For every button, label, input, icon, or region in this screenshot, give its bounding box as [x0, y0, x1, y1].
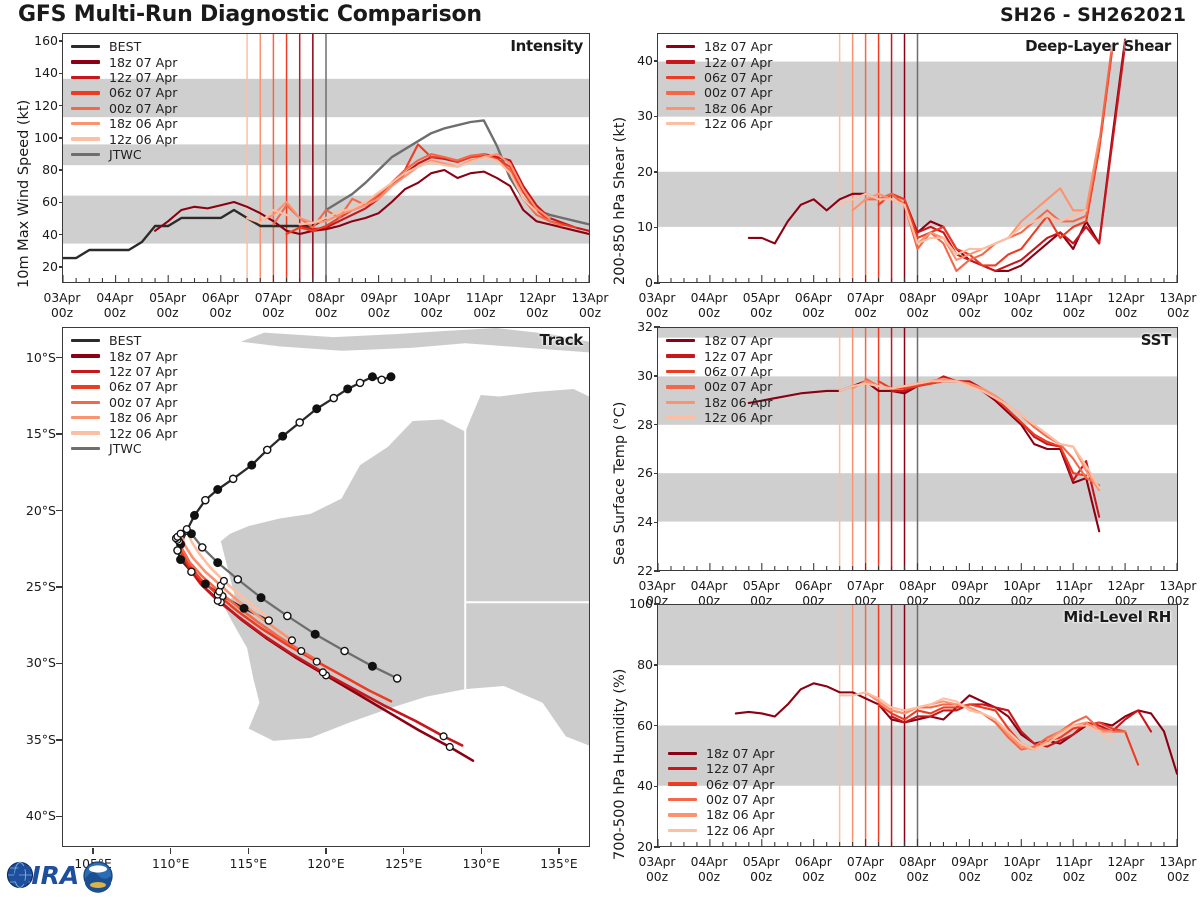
track-marker	[311, 630, 319, 638]
track-marker-open	[221, 578, 228, 585]
legend-item: 00z 07 Apr	[668, 792, 774, 807]
x-tick-label: 09Apr00z	[349, 291, 409, 320]
legend-label: 12z 07 Apr	[109, 70, 177, 85]
legend-swatch	[71, 91, 100, 94]
rh-panel[interactable]: Mid-Level RH 18z 07 Apr12z 07 Apr06z 07 …	[657, 604, 1178, 847]
legend-swatch	[666, 76, 695, 79]
legend-swatch	[71, 416, 100, 419]
cira-seal-icon	[84, 862, 112, 893]
legend-swatch	[71, 385, 100, 388]
x-tick-label: 09Apr00z	[940, 291, 1000, 320]
cira-logo: CIRA	[6, 854, 124, 896]
legend-label: 12z 06 Apr	[109, 132, 177, 147]
legend-swatch	[666, 354, 695, 357]
intensity-panel[interactable]: Intensity BEST18z 07 Apr12z 07 Apr06z 07…	[62, 33, 590, 283]
track-marker-open	[313, 658, 320, 665]
lon-tick-label: 115°E	[214, 857, 282, 872]
legend-label: 18z 07 Apr	[704, 39, 772, 54]
legend-item: 18z 06 Apr	[666, 101, 772, 116]
legend-label: 12z 07 Apr	[706, 761, 774, 776]
legend-label: 06z 07 Apr	[109, 85, 177, 100]
x-tick-label: 11Apr00z	[1044, 855, 1104, 884]
x-tick-label: 13Apr00z	[560, 291, 620, 320]
x-tick-label: 05Apr00z	[731, 855, 791, 884]
legend-swatch	[71, 122, 100, 125]
legend-swatch	[71, 137, 100, 140]
x-tick-label: 07Apr00z	[835, 291, 895, 320]
x-tick-label: 07Apr00z	[243, 291, 303, 320]
legend-item: 18z 06 Apr	[666, 395, 772, 410]
x-tick-label: 12Apr00z	[507, 291, 567, 320]
x-tick-label: 06Apr00z	[190, 291, 250, 320]
legend-swatch	[666, 122, 695, 125]
legend-item: 12z 06 Apr	[666, 410, 772, 425]
lon-tick-label: 120°E	[292, 857, 360, 872]
y-tick-label: 60	[613, 718, 653, 733]
page-title: GFS Multi-Run Diagnostic Comparison	[18, 2, 482, 27]
y-tick-label: 22	[613, 563, 653, 578]
track-legend: BEST18z 07 Apr12z 07 Apr06z 07 Apr00z 07…	[71, 333, 177, 456]
rh-y-axis-title: 700-500 hPa Humidity (%)	[612, 669, 628, 860]
lat-tick-label: 40°S	[2, 808, 56, 823]
track-marker-open	[188, 568, 195, 575]
legend-label: 18z 06 Apr	[704, 395, 772, 410]
track-marker-open	[264, 446, 271, 453]
y-tick-label: 160	[18, 33, 58, 48]
x-tick-label: 10Apr00z	[992, 855, 1052, 884]
legend-swatch	[71, 76, 100, 79]
y-tick-label: 20	[613, 839, 653, 854]
legend-item: 18z 07 Apr	[71, 348, 177, 363]
legend-swatch	[71, 45, 100, 48]
legend-swatch	[666, 339, 695, 342]
lat-tick-label: 15°S	[2, 426, 56, 441]
track-marker	[214, 559, 222, 567]
legend-label: 18z 07 Apr	[706, 746, 774, 761]
legend-item: 18z 06 Apr	[668, 807, 774, 822]
legend-swatch	[666, 45, 695, 48]
legend-swatch	[668, 798, 697, 801]
rh-x-ticks	[657, 847, 1178, 855]
intensity-legend: BEST18z 07 Apr12z 07 Apr06z 07 Apr00z 07…	[71, 39, 177, 162]
x-tick-label: 09Apr00z	[940, 855, 1000, 884]
legend-item: 00z 07 Apr	[666, 85, 772, 100]
storm-id-title: SH26 - SH262021	[1000, 4, 1186, 26]
sst-x-ticks	[657, 571, 1178, 579]
legend-label: 00z 07 Apr	[109, 101, 177, 116]
legend-label: 18z 06 Apr	[109, 410, 177, 425]
legend-label: 12z 07 Apr	[704, 55, 772, 70]
y-tick-label: 140	[18, 65, 58, 80]
x-tick-label: 06Apr00z	[783, 291, 843, 320]
legend-label: 12z 07 Apr	[704, 349, 772, 364]
legend-item: JTWC	[71, 441, 177, 456]
track-marker-open	[440, 733, 447, 740]
shear-legend: 18z 07 Apr12z 07 Apr06z 07 Apr00z 07 Apr…	[666, 39, 772, 131]
legend-label: 12z 06 Apr	[704, 116, 772, 131]
track-marker	[387, 373, 395, 381]
lat-tick-label: 35°S	[2, 732, 56, 747]
sst-panel-label: SST	[1141, 331, 1171, 349]
legend-label: 00z 07 Apr	[706, 792, 774, 807]
legend-swatch	[666, 370, 695, 373]
legend-item: 12z 06 Apr	[71, 425, 177, 440]
y-tick-label: 0	[613, 275, 653, 290]
legend-label: 12z 06 Apr	[109, 426, 177, 441]
shear-x-ticks	[657, 283, 1178, 291]
legend-swatch	[71, 401, 100, 404]
legend-swatch	[666, 91, 695, 94]
legend-item: 06z 07 Apr	[71, 379, 177, 394]
track-marker	[313, 405, 321, 413]
track-marker-open	[296, 419, 303, 426]
rh-legend: 18z 07 Apr12z 07 Apr06z 07 Apr00z 07 Apr…	[668, 746, 774, 838]
legend-label: 06z 07 Apr	[704, 70, 772, 85]
legend-item: 00z 07 Apr	[666, 379, 772, 394]
legend-label: 12z 06 Apr	[706, 823, 774, 838]
legend-swatch	[666, 385, 695, 388]
legend-item: 06z 07 Apr	[666, 364, 772, 379]
legend-label: 18z 07 Apr	[109, 349, 177, 364]
track-marker-open	[298, 648, 305, 655]
x-tick-label: 12Apr00z	[1096, 291, 1156, 320]
legend-item: 00z 07 Apr	[71, 101, 177, 116]
legend-swatch	[668, 767, 697, 770]
lon-tick-label: 130°E	[447, 857, 515, 872]
legend-label: JTWC	[109, 441, 142, 456]
legend-item: 12z 06 Apr	[666, 116, 772, 131]
track-marker-open	[341, 647, 348, 654]
legend-label: 12z 07 Apr	[109, 364, 177, 379]
legend-item: BEST	[71, 333, 177, 348]
legend-label: 00z 07 Apr	[704, 379, 772, 394]
x-tick-label: 10Apr00z	[992, 291, 1052, 320]
y-tick-label: 40	[613, 778, 653, 793]
legend-label: 00z 07 Apr	[109, 395, 177, 410]
landmass	[241, 328, 589, 352]
y-tick-label: 30	[613, 108, 653, 123]
y-tick-label: 100	[18, 130, 58, 145]
legend-item: 18z 07 Apr	[71, 54, 177, 69]
legend-item: 12z 07 Apr	[666, 54, 772, 69]
track-marker-open	[446, 744, 453, 751]
legend-label: 18z 07 Apr	[109, 55, 177, 70]
y-tick-label: 30	[613, 368, 653, 383]
legend-swatch	[71, 60, 100, 63]
legend-swatch	[668, 782, 697, 785]
y-tick-label: 80	[18, 162, 58, 177]
track-marker	[368, 373, 376, 381]
track-marker-open	[356, 379, 363, 386]
sst-legend: 18z 07 Apr12z 07 Apr06z 07 Apr00z 07 Apr…	[666, 333, 772, 425]
svg-text:CIRA: CIRA	[13, 861, 79, 890]
legend-item: 12z 07 Apr	[71, 364, 177, 379]
x-tick-label: 06Apr00z	[783, 855, 843, 884]
legend-item: BEST	[71, 39, 177, 54]
legend-item: 06z 07 Apr	[666, 70, 772, 85]
x-tick-label: 08Apr00z	[296, 291, 356, 320]
track-marker-open	[183, 526, 190, 533]
track-marker-open	[234, 576, 241, 583]
legend-swatch	[71, 107, 100, 110]
x-tick-label: 03Apr00z	[627, 291, 687, 320]
legend-item: 12z 07 Apr	[71, 70, 177, 85]
lon-tick-label: 135°E	[525, 857, 593, 872]
y-tick-label: 24	[613, 514, 653, 529]
intensity-x-ticks	[62, 283, 590, 291]
shear-panel[interactable]: Deep-Layer Shear 18z 07 Apr12z 07 Apr06z…	[657, 33, 1178, 283]
lat-tick-label: 30°S	[2, 655, 56, 670]
legend-swatch	[666, 107, 695, 110]
track-marker-open	[199, 544, 206, 551]
legend-item: 06z 07 Apr	[71, 85, 177, 100]
x-tick-label: 11Apr00z	[454, 291, 514, 320]
x-tick-label: 08Apr00z	[888, 855, 948, 884]
y-tick-label: 10	[613, 219, 653, 234]
y-tick-label: 26	[613, 465, 653, 480]
track-marker	[214, 486, 222, 494]
legend-label: 06z 07 Apr	[706, 777, 774, 792]
track-marker-open	[289, 637, 296, 644]
legend-item: 18z 06 Apr	[71, 116, 177, 131]
intensity-panel-label: Intensity	[510, 37, 583, 55]
lat-tick-label: 20°S	[2, 503, 56, 518]
rh-panel-label: Mid-Level RH	[1063, 608, 1171, 626]
track-marker	[177, 556, 185, 564]
x-tick-label: 03Apr00z	[32, 291, 92, 320]
x-tick-label: 10Apr00z	[402, 291, 462, 320]
y-tick-label: 100	[613, 596, 653, 611]
x-tick-label: 05Apr00z	[138, 291, 198, 320]
legend-item: 00z 07 Apr	[71, 395, 177, 410]
legend-label: JTWC	[109, 147, 142, 162]
y-tick-label: 28	[613, 417, 653, 432]
legend-swatch	[71, 370, 100, 373]
x-tick-label: 13Apr00z	[1148, 291, 1200, 320]
legend-item: 12z 06 Apr	[71, 131, 177, 146]
track-panel[interactable]: Track BEST18z 07 Apr12z 07 Apr06z 07 Apr…	[62, 327, 590, 847]
shear-y-axis-title: 200-850 hPa Shear (kt)	[612, 117, 628, 285]
legend-swatch	[71, 153, 100, 156]
track-marker-open	[378, 376, 385, 383]
x-tick-label: 07Apr00z	[835, 855, 895, 884]
track-marker-open	[230, 475, 237, 482]
legend-item: 06z 07 Apr	[668, 776, 774, 791]
legend-swatch	[668, 813, 697, 816]
lon-tick-label: 125°E	[370, 857, 438, 872]
legend-item: 18z 07 Apr	[668, 746, 774, 761]
legend-item: 12z 07 Apr	[668, 761, 774, 776]
track-marker-open	[320, 669, 327, 676]
legend-label: 18z 06 Apr	[704, 101, 772, 116]
legend-swatch	[71, 431, 100, 434]
y-tick-label: 80	[613, 657, 653, 672]
legend-label: 18z 06 Apr	[706, 807, 774, 822]
y-tick-label: 20	[613, 164, 653, 179]
y-tick-label: 60	[18, 194, 58, 209]
track-marker-open	[202, 497, 209, 504]
y-tick-label: 32	[613, 319, 653, 334]
x-tick-label: 04Apr00z	[85, 291, 145, 320]
x-tick-label: 04Apr00z	[679, 855, 739, 884]
legend-swatch	[666, 401, 695, 404]
legend-label: 00z 07 Apr	[704, 85, 772, 100]
legend-swatch	[666, 416, 695, 419]
track-marker	[344, 385, 352, 393]
x-tick-label: 08Apr00z	[888, 291, 948, 320]
track-marker-open	[394, 675, 401, 682]
legend-item: 12z 07 Apr	[666, 348, 772, 363]
legend-item: 18z 07 Apr	[666, 333, 772, 348]
y-tick-label: 40	[613, 53, 653, 68]
legend-swatch	[71, 447, 100, 450]
track-marker	[201, 580, 209, 588]
sst-panel[interactable]: SST 18z 07 Apr12z 07 Apr06z 07 Apr00z 07…	[657, 327, 1178, 571]
x-tick-label: 03Apr00z	[627, 855, 687, 884]
legend-label: BEST	[109, 39, 141, 54]
legend-swatch	[71, 339, 100, 342]
legend-swatch	[71, 354, 100, 357]
y-tick-label: 20	[18, 259, 58, 274]
lon-tick-label: 110°E	[137, 857, 205, 872]
legend-item: 18z 07 Apr	[666, 39, 772, 54]
x-tick-label: 04Apr00z	[679, 291, 739, 320]
track-marker	[257, 594, 265, 602]
track-marker	[191, 511, 199, 519]
legend-label: 06z 07 Apr	[109, 379, 177, 394]
track-marker	[240, 604, 248, 612]
legend-swatch	[668, 752, 697, 755]
legend-label: BEST	[109, 333, 141, 348]
legend-swatch	[666, 60, 695, 63]
legend-item: 18z 06 Apr	[71, 410, 177, 425]
legend-label: 12z 06 Apr	[704, 410, 772, 425]
shear-panel-label: Deep-Layer Shear	[1025, 37, 1171, 55]
track-marker-open	[174, 547, 181, 554]
track-marker	[248, 461, 256, 469]
lat-tick-label: 25°S	[2, 579, 56, 594]
legend-label: 18z 07 Apr	[704, 333, 772, 348]
x-tick-label: 12Apr00z	[1096, 855, 1156, 884]
y-tick-label: 120	[18, 98, 58, 113]
legend-item: JTWC	[71, 147, 177, 162]
track-marker	[279, 432, 287, 440]
x-tick-label: 11Apr00z	[1044, 291, 1104, 320]
track-marker	[368, 662, 376, 670]
legend-swatch	[668, 829, 697, 832]
legend-label: 18z 06 Apr	[109, 116, 177, 131]
track-marker-open	[284, 612, 291, 619]
track-marker-open	[265, 617, 272, 624]
lat-tick-label: 10°S	[2, 350, 56, 365]
track-marker-open	[330, 394, 337, 401]
legend-label: 06z 07 Apr	[704, 364, 772, 379]
x-tick-label: 13Apr00z	[1148, 855, 1200, 884]
x-tick-label: 05Apr00z	[731, 291, 791, 320]
y-tick-label: 40	[18, 227, 58, 242]
track-marker-open	[177, 530, 184, 537]
track-panel-label: Track	[540, 331, 583, 349]
legend-item: 12z 06 Apr	[668, 823, 774, 838]
